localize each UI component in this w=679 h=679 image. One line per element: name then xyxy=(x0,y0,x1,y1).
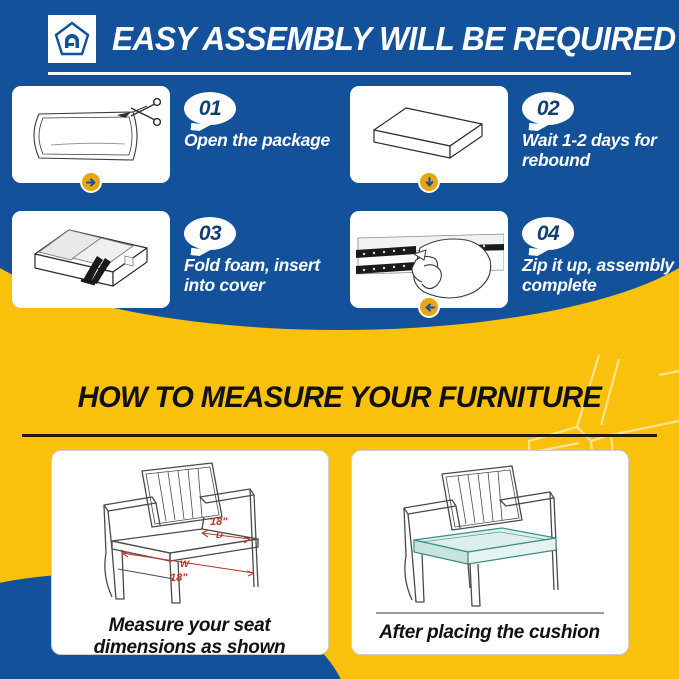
step-number-badge-03: 03 xyxy=(184,217,236,250)
arrow-left-icon xyxy=(418,296,440,318)
measure-cards: 18" D W 18" Measure your seat dimensions… xyxy=(0,450,679,655)
section-header-assembly: EASY ASSEMBLY WILL BE REQUIRED xyxy=(0,0,679,78)
card-separator-2 xyxy=(376,612,604,614)
svg-text:18": 18" xyxy=(210,516,228,528)
svg-text:D: D xyxy=(216,530,223,541)
foam-slab-icon xyxy=(364,98,494,172)
step-number-badge-04: 04 xyxy=(522,217,574,250)
measure-card-cushion: After placing the cushion xyxy=(351,450,629,655)
chair-with-dimensions-icon: 18" D W 18" xyxy=(82,457,297,607)
step-label-02: Wait 1-2 days for rebound xyxy=(522,131,679,170)
page-title: EASY ASSEMBLY WILL BE REQUIRED xyxy=(112,20,676,58)
measure-divider xyxy=(22,434,657,437)
section-title-measure: HOW TO MEASURE YOUR FURNITURE xyxy=(10,381,669,415)
hand-zipping-zipper-icon xyxy=(354,220,504,300)
measure-card-figure-2 xyxy=(352,457,628,612)
step-figure-03 xyxy=(12,211,170,308)
step-label-04: Zip it up, assembly complete xyxy=(522,256,679,295)
svg-text:18": 18" xyxy=(170,572,188,584)
measure-card-caption-1: Measure your seat dimensions as shown xyxy=(52,615,328,655)
assembly-steps-grid: 01 Open the package xyxy=(0,86,679,320)
step-text-03: 03 Fold foam, insert into cover xyxy=(184,211,342,295)
step-label-03: Fold foam, insert into cover xyxy=(184,256,342,295)
step-item-01: 01 Open the package xyxy=(12,86,342,195)
step-number-badge-02: 02 xyxy=(522,92,574,125)
measure-card-caption-2: After placing the cushion xyxy=(369,622,610,654)
house-pentagon-logo-icon xyxy=(48,15,96,63)
step-text-01: 01 Open the package xyxy=(184,86,330,151)
step-number-04: 04 xyxy=(537,222,559,246)
step-item-04: 04 Zip it up, assembly complete xyxy=(350,211,679,320)
step-number-02: 02 xyxy=(537,97,559,121)
step-item-03: 03 Fold foam, insert into cover xyxy=(12,211,342,320)
step-figure-01 xyxy=(12,86,170,183)
rolled-package-scissors-icon xyxy=(21,98,161,172)
step-text-02: 02 Wait 1-2 days for rebound xyxy=(522,86,679,170)
step-number-01: 01 xyxy=(199,97,221,121)
arrow-down-icon xyxy=(418,171,440,193)
measure-card-figure-1: 18" D W 18" xyxy=(52,457,328,607)
arrow-right-icon xyxy=(80,171,102,193)
measure-card-dimensions: 18" D W 18" Measure your seat dimensions… xyxy=(51,450,329,655)
step-label-01: Open the package xyxy=(184,131,330,151)
step-number-badge-01: 01 xyxy=(184,92,236,125)
step-text-04: 04 Zip it up, assembly complete xyxy=(522,211,679,295)
header-divider xyxy=(48,72,631,75)
infographic-poster: EASY ASSEMBLY WILL BE REQUIRED xyxy=(0,0,679,679)
step-item-02: 02 Wait 1-2 days for rebound xyxy=(350,86,679,195)
svg-text:W: W xyxy=(180,559,190,570)
step-number-03: 03 xyxy=(199,222,221,246)
fold-foam-into-cover-icon xyxy=(21,222,161,298)
chair-with-cushion-icon xyxy=(382,460,597,610)
step-figure-02 xyxy=(350,86,508,183)
step-figure-04 xyxy=(350,211,508,308)
